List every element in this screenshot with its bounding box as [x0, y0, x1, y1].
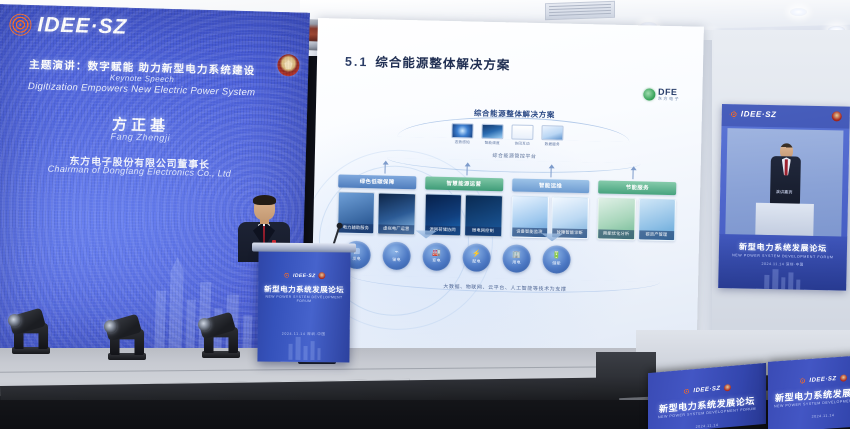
topic-caption: 协同互动 — [511, 141, 533, 146]
topic-caption: 数据服务 — [541, 142, 563, 147]
national-emblem-icon — [840, 374, 847, 381]
topic-thumbnail-icon — [481, 124, 503, 139]
chain-node-icon: ⚡ — [472, 250, 481, 257]
diagram-top-icon: 协同互动 — [511, 124, 533, 146]
skyline-graphic — [270, 334, 336, 361]
slide-title: 5.1综合能源整体解决方案 — [345, 51, 511, 74]
group-card: 用能优化分析 — [597, 197, 635, 240]
podium-top-surface — [252, 242, 356, 252]
chain-node-icon: 🏭 — [432, 249, 441, 256]
table-placard: IDEE·SZ 新型电力系统发展论坛 NEW POWER SYSTEM DEVE… — [768, 354, 850, 429]
diagram-group: 智慧能源运营 源网荷储协同 微电网控制 — [424, 176, 503, 237]
topic-caption: 智能调度 — [481, 140, 503, 145]
moving-head-light — [8, 312, 54, 354]
podium-title-en: NEW POWER SYSTEM DEVELOPMENT FORUM — [258, 295, 350, 304]
topic-caption: 态势感知 — [451, 140, 473, 145]
idee-globe-icon — [683, 387, 690, 395]
diagram-top-icon: 智能调度 — [481, 124, 503, 146]
diagram-chevron-icon — [541, 233, 563, 241]
chain-node-label: 发电 — [352, 256, 361, 262]
table-placard: IDEE·SZ 新型电力系统发展论坛 NEW POWER SYSTEM DEVE… — [648, 363, 766, 429]
idee-globe-icon — [799, 377, 806, 384]
chain-node: ⌁ 输电 — [382, 242, 411, 271]
diagram-top-icons: 态势感知 智能调度 协同互动 数据服务 — [451, 123, 563, 147]
center-projection-screen: 5.1综合能源整体解决方案 DFE 东方电子 综合能源整体解决方案 态势感知 — [311, 18, 704, 357]
conference-stage-photo: IDEE·SZ 主题演讲：数字赋能 助力新型电力系统建设 Keynote Spe… — [0, 0, 850, 429]
diagram-top-icon: 态势感知 — [451, 123, 473, 145]
group-card: 虚拟电厂运营 — [377, 192, 415, 235]
diagram-chevron-icon — [415, 230, 437, 238]
group-card: 电力辅助服务 — [337, 191, 375, 234]
right-screen-lower-third: 新型电力系统发展论坛 NEW POWER SYSTEM DEVELOPMENT … — [718, 234, 847, 291]
diagram-arrow-up-icon — [466, 165, 467, 175]
chain-node-icon: ⌁ — [395, 249, 399, 256]
card-caption: 用能优化分析 — [598, 229, 634, 239]
chain-node-label: 输电 — [392, 257, 401, 263]
chain-node-label: 变电 — [432, 258, 441, 264]
idee-brand-text: IDEE·SZ — [693, 385, 720, 393]
diagram-group: 绿色低碳保障 电力辅助服务 虚拟电厂运营 — [337, 175, 416, 236]
slide-title-text: 综合能源整体解决方案 — [375, 55, 510, 72]
chain-node: 🏭 变电 — [422, 242, 451, 271]
podium: IDEE·SZ 新型电力系统发展论坛 NEW POWER SYSTEM DEVE… — [257, 250, 350, 363]
right-led-screen: IDEE·SZ 演讲嘉宾 新型电力 — [718, 104, 850, 291]
diagram-groups: 绿色低碳保障 电力辅助服务 虚拟电厂运营 智慧能源运营 源网荷储协同 微电网控制… — [337, 175, 676, 241]
podium-brand-logo: IDEE·SZ — [258, 266, 350, 285]
card-caption: 碳资产管理 — [639, 230, 675, 240]
chain-node-label: 储能 — [552, 261, 561, 267]
dfe-vendor-logo: DFE 东方电子 — [643, 87, 681, 101]
group-card: 微电网控制 — [464, 194, 502, 237]
diagram-arrow-up-icon — [632, 169, 633, 179]
left-screen-brand-logo: IDEE·SZ — [9, 12, 127, 39]
chain-node-icon: 🏢 — [512, 251, 521, 258]
topic-thumbnail-icon — [511, 124, 533, 139]
air-vent-icon — [545, 1, 615, 20]
feed-caption: 演讲嘉宾 — [726, 188, 842, 196]
moving-head-light — [104, 318, 150, 360]
national-emblem-icon — [724, 384, 731, 392]
group-cards: 电力辅助服务 虚拟电厂运营 — [337, 191, 416, 235]
chain-node: 🔋 储能 — [542, 245, 571, 274]
diagram-arrow-up-icon — [384, 164, 385, 174]
dfe-leaf-icon — [643, 88, 655, 100]
idee-globe-icon — [283, 272, 290, 279]
idee-brand-text: IDEE·SZ — [741, 109, 777, 119]
idee-brand-text: IDEE·SZ — [37, 13, 127, 39]
national-emblem-icon — [319, 272, 326, 279]
diagram-arrow-up-icon — [550, 167, 551, 177]
card-caption: 虚拟电厂运营 — [379, 224, 415, 234]
group-card: 设备智能监测 — [511, 195, 549, 238]
chain-node-label: 配电 — [472, 259, 481, 265]
group-label: 绿色低碳保障 — [338, 175, 416, 190]
diagram-group: 智能运维 设备智能监测 故障智能诊断 — [511, 178, 590, 239]
group-label: 智能运维 — [512, 178, 590, 193]
speaker-hair — [253, 195, 276, 205]
dfe-logo-sub: 东方电子 — [658, 97, 680, 102]
downlight-3 — [790, 8, 807, 16]
right-screen-brand-logo: IDEE·SZ — [730, 109, 777, 119]
card-caption: 微电网控制 — [465, 226, 501, 236]
slide-diagram: 综合能源整体解决方案 态势感知 智能调度 协同互动 数据服务 — [335, 105, 678, 323]
group-card: 碳资产管理 — [638, 198, 676, 241]
skyline-graphic — [742, 266, 822, 290]
diagram-group: 节能服务 用能优化分析 碳资产管理 — [597, 180, 676, 241]
chain-node-icon: 🔋 — [552, 252, 561, 259]
topic-thumbnail-icon — [541, 125, 563, 140]
diagram-top-icon: 数据服务 — [541, 125, 563, 147]
live-camera-feed: 演讲嘉宾 — [725, 128, 843, 236]
group-label: 智慧能源运营 — [425, 176, 503, 191]
chain-node-label: 用电 — [512, 260, 521, 266]
slide-section-number: 5.1 — [345, 55, 369, 70]
chain-node: ⚡ 配电 — [462, 243, 491, 272]
idee-brand-text: IDEE·SZ — [809, 376, 836, 384]
topic-thumbnail-icon — [451, 123, 473, 138]
feed-speaker-tie — [785, 159, 788, 175]
group-cards: 用能优化分析 碳资产管理 — [597, 197, 676, 241]
chain-node: 🏢 用电 — [502, 244, 531, 273]
idee-globe-icon — [9, 13, 32, 36]
idee-globe-icon — [730, 110, 738, 118]
idee-brand-text: IDEE·SZ — [293, 272, 316, 278]
placard-date: 2024.11.14 — [768, 410, 850, 422]
moving-head-light — [198, 316, 244, 358]
feed-podium — [755, 203, 814, 236]
card-caption: 电力辅助服务 — [338, 223, 374, 233]
group-label: 节能服务 — [598, 180, 676, 195]
